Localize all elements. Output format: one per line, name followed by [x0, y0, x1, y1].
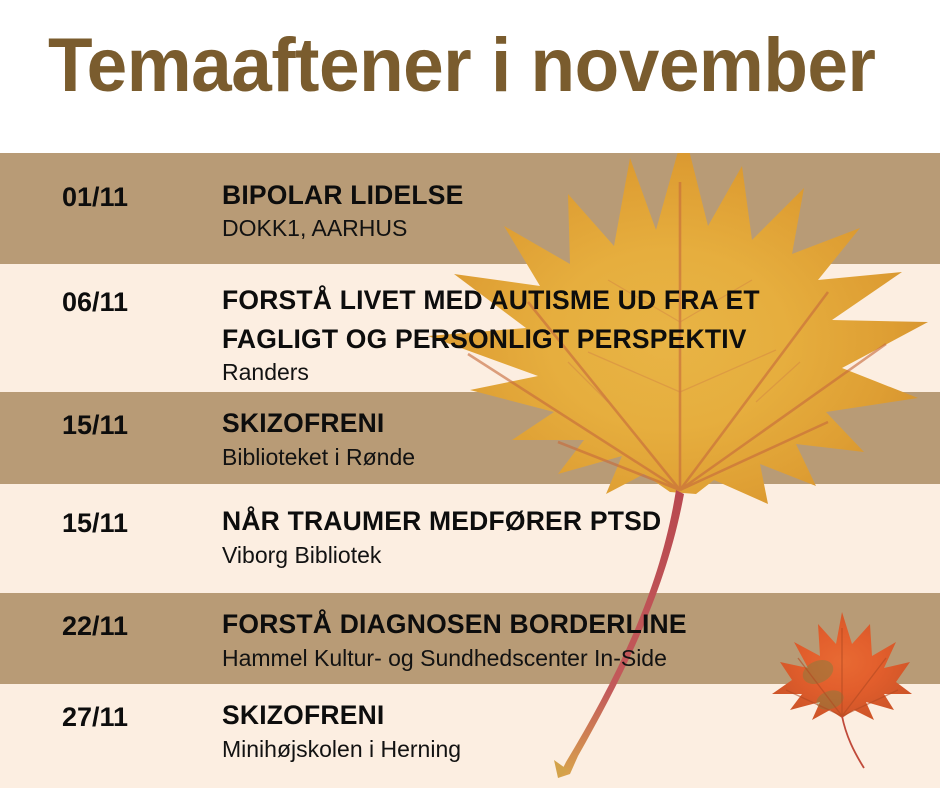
band-row-4	[0, 484, 940, 593]
band-row-3	[0, 392, 940, 484]
band-row-1	[0, 153, 940, 264]
page-title: Temaaftener i november	[48, 26, 875, 106]
band-row-2	[0, 264, 940, 392]
title-band: Temaaftener i november	[0, 0, 940, 153]
band-row-5	[0, 593, 940, 684]
band-row-6	[0, 684, 940, 788]
poster-canvas: Temaaftener i november 01/11 BIPOLAR LID…	[0, 0, 940, 788]
